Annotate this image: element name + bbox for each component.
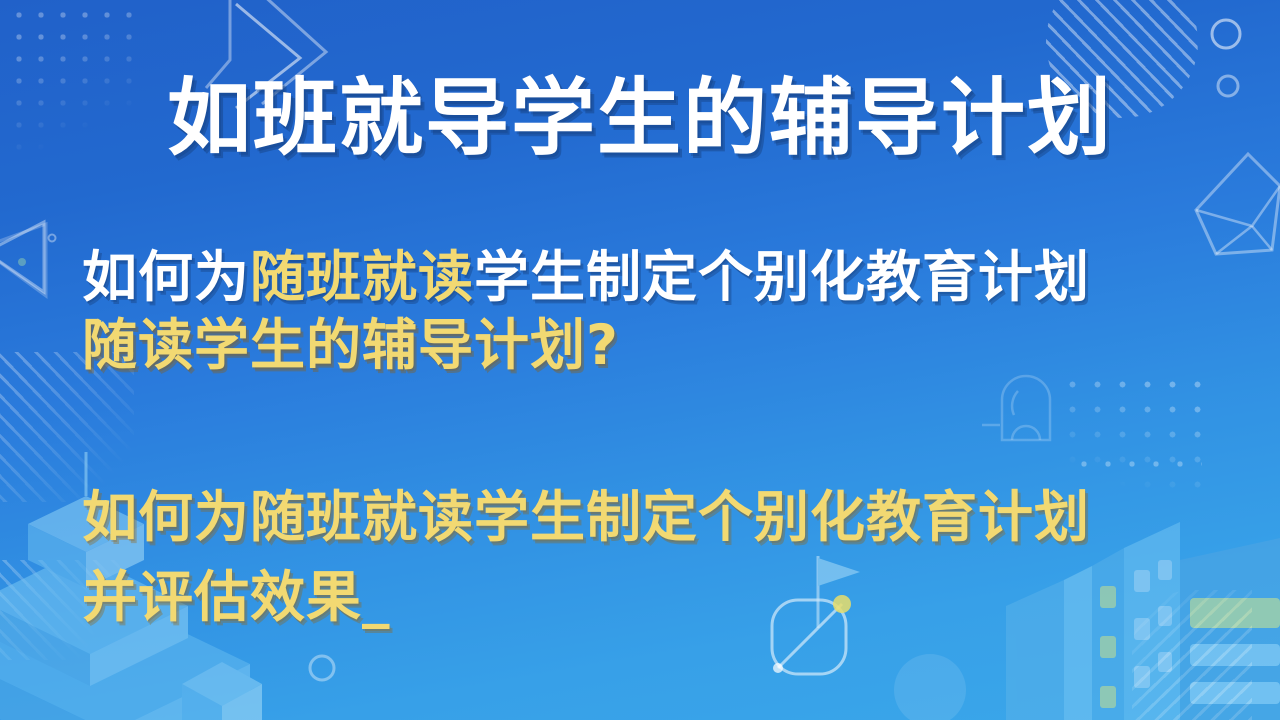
answer-line-1: 如何为随班就读学生制定个别化教育计划 — [82, 478, 1242, 558]
question-line-1-white-prefix: 如何为 — [82, 245, 250, 309]
question-line-1-highlight: 随班就读 — [250, 245, 474, 309]
answer-line-2: 并评估效果_ — [82, 558, 1242, 638]
slide-content: 如班就导学生的辅导计划 如何为随班就读学生制定个别化教育计划 随读学生的辅导计划… — [0, 0, 1280, 720]
answer-line-2-text: 并评估效果 — [82, 565, 362, 629]
question-block: 如何为随班就读学生制定个别化教育计划 随读学生的辅导计划? — [82, 248, 1222, 385]
question-line-2: 随读学生的辅导计划? — [82, 316, 1222, 374]
page-title: 如班就导学生的辅导计划 — [167, 76, 1113, 160]
answer-block: 如何为随班就读学生制定个别化教育计划 并评估效果_ — [82, 478, 1242, 638]
typing-caret: _ — [362, 558, 391, 638]
question-line-1-white-suffix: 学生制定个别化教育计划 — [474, 245, 1090, 309]
question-line-1: 如何为随班就读学生制定个别化教育计划 — [82, 248, 1222, 306]
slide-canvas: 如班就导学生的辅导计划 如何为随班就读学生制定个别化教育计划 随读学生的辅导计划… — [0, 0, 1280, 720]
